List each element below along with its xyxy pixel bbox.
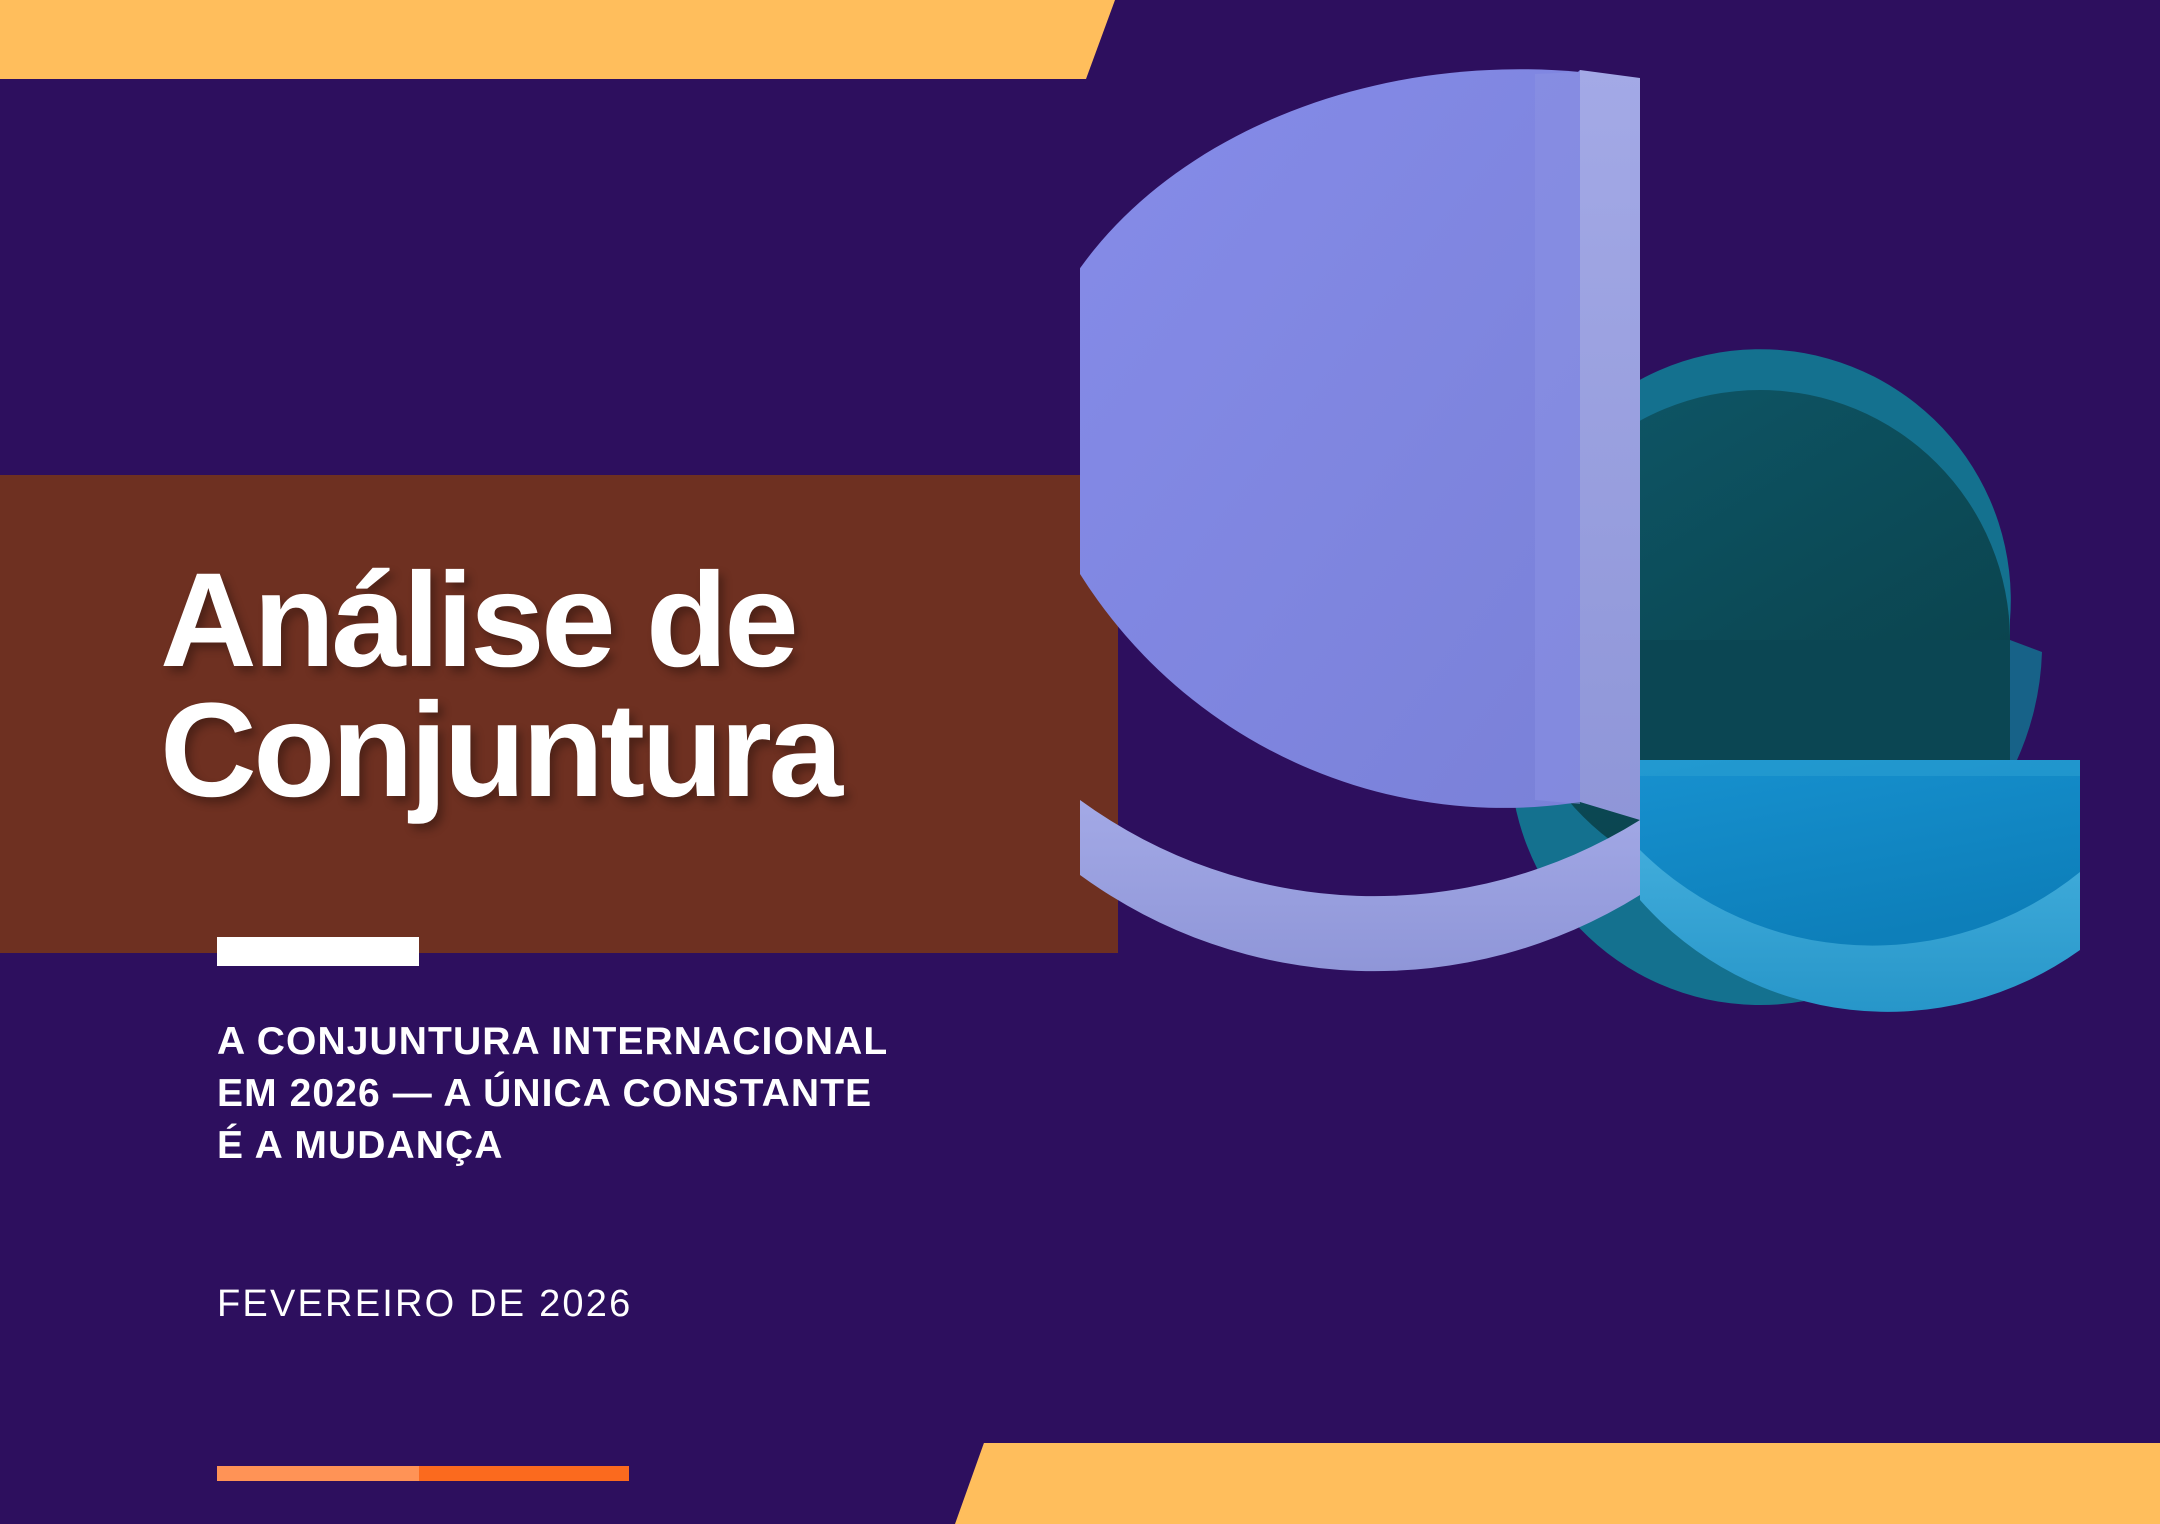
slide-subtitle: A CONJUNTURA INTERNACIONAL EM 2026 — A Ú… bbox=[217, 1016, 1037, 1172]
page-title: Análise de Conjuntura bbox=[160, 556, 1080, 816]
text-column: Análise de Conjuntura A CONJUNTURA INTER… bbox=[0, 0, 1120, 1524]
slide-date: FEVEREIRO DE 2026 bbox=[217, 1283, 632, 1326]
pie-chart-graphic bbox=[1080, 60, 2080, 1300]
bottom-yellow-band bbox=[955, 1443, 2160, 1524]
accent-bar-segment-dark bbox=[419, 1466, 629, 1481]
orange-accent-bar bbox=[217, 1466, 629, 1481]
white-rule-divider bbox=[217, 937, 419, 966]
accent-bar-segment-light bbox=[217, 1466, 419, 1481]
title-slide: Análise de Conjuntura A CONJUNTURA INTER… bbox=[0, 0, 2160, 1524]
